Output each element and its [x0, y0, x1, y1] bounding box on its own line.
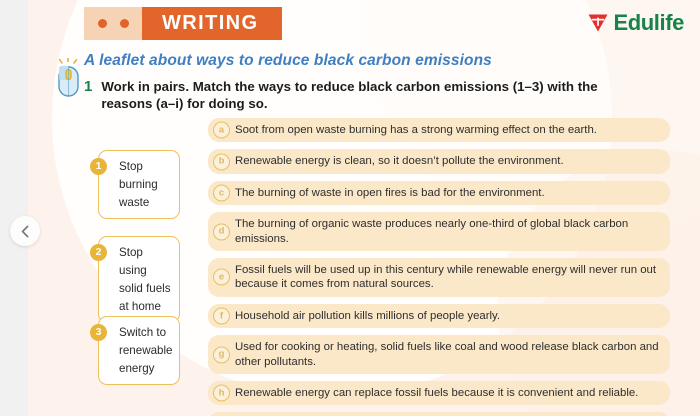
task-number: 1 [84, 78, 92, 112]
reason-item-d[interactable]: d The burning of organic waste produces … [208, 212, 670, 251]
way-label: Stop using solid fuels at home [119, 246, 171, 313]
task-instruction: 1 Work in pairs. Match the ways to reduc… [84, 78, 614, 112]
reason-text: Household air pollution kills millions o… [235, 309, 500, 323]
reason-item-h[interactable]: h Renewable energy can replace fossil fu… [208, 381, 670, 405]
reason-letter-badge: b [213, 153, 230, 170]
reasons-column: a Soot from open waste burning has a str… [208, 118, 670, 416]
reason-letter-badge: c [213, 185, 230, 202]
reason-text: Renewable energy can replace fossil fuel… [235, 386, 638, 400]
section-header-bar: WRITING [142, 7, 282, 40]
way-number-badge: 3 [90, 324, 107, 341]
way-number-badge: 1 [90, 158, 107, 175]
left-rail [0, 0, 28, 416]
brand-logo: Edulife [587, 12, 684, 34]
reason-text: Renewable energy is clean, so it doesn’t… [235, 154, 564, 168]
reason-text: Used for cooking or heating, solid fuels… [235, 340, 660, 369]
ways-column: 1 Stop burning waste 2 Stop using solid … [98, 118, 188, 416]
reason-letter-badge: e [213, 269, 230, 286]
brand-name: Edulife [613, 12, 684, 34]
reason-letter-badge: a [213, 122, 230, 139]
reason-item-b[interactable]: b Renewable energy is clean, so it doesn… [208, 149, 670, 173]
reason-text: Fossil fuels will be used up in this cen… [235, 263, 660, 292]
reason-item-e[interactable]: e Fossil fuels will be used up in this c… [208, 258, 670, 297]
way-label: Stop burning waste [119, 160, 158, 209]
chevron-left-icon [20, 225, 31, 238]
reason-text: Soot from open waste burning has a stron… [235, 123, 597, 137]
way-item-3[interactable]: 3 Switch to renewable energy [98, 316, 180, 385]
section-label: WRITING [162, 12, 258, 35]
reason-letter-badge: f [213, 308, 230, 325]
reason-letter-badge: d [213, 223, 230, 240]
reason-item-a[interactable]: a Soot from open waste burning has a str… [208, 118, 670, 142]
way-number-badge: 2 [90, 244, 107, 261]
reason-text: The burning of waste in open fires is ba… [235, 186, 545, 200]
lesson-screen: WRITING Edulife A leaflet about ways to … [0, 0, 700, 416]
way-item-2[interactable]: 2 Stop using solid fuels at home [98, 236, 180, 323]
way-item-1[interactable]: 1 Stop burning waste [98, 150, 180, 219]
section-header: WRITING [84, 7, 282, 40]
reason-item-c[interactable]: c The burning of waste in open fires is … [208, 181, 670, 205]
matching-exercise: 1 Stop burning waste 2 Stop using solid … [70, 118, 670, 416]
reason-item-i[interactable]: i The tiny pieces of black carbon releas… [208, 412, 670, 416]
edulife-pennant-icon [587, 12, 609, 34]
lesson-subtitle: A leaflet about ways to reduce black car… [84, 52, 644, 70]
two-dots-icon [84, 7, 142, 40]
reason-letter-badge: h [213, 385, 230, 402]
task-text: Work in pairs. Match the ways to reduce … [101, 78, 614, 112]
reason-letter-badge: g [213, 346, 230, 363]
reason-item-f[interactable]: f Household air pollution kills millions… [208, 304, 670, 328]
way-label: Switch to renewable energy [119, 326, 173, 375]
reason-item-g[interactable]: g Used for cooking or heating, solid fue… [208, 335, 670, 374]
reason-text: The burning of organic waste produces ne… [235, 217, 660, 246]
computer-mouse-icon [53, 58, 87, 102]
prev-slide-button[interactable] [10, 216, 40, 246]
